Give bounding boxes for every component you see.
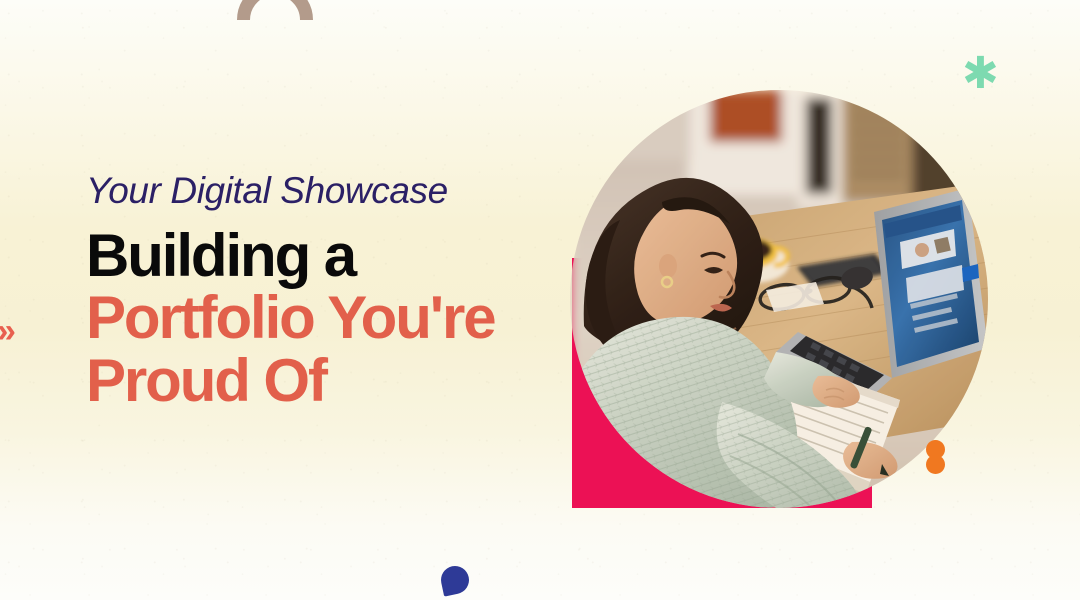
title-line-1: Building a <box>86 225 556 287</box>
stacked-dots-icon <box>926 440 945 474</box>
teardrop-icon <box>438 563 471 596</box>
headline-block: Your Digital Showcase Building a Portfol… <box>86 172 556 412</box>
double-chevron-icon: » <box>0 314 11 348</box>
title-line-3: Proud Of <box>86 350 556 412</box>
arch-icon <box>237 0 313 58</box>
asterisk-icon: ✱ <box>962 52 999 96</box>
eyebrow-text: Your Digital Showcase <box>86 172 556 209</box>
dot-bottom <box>926 455 945 474</box>
title-line-2: Portfolio You're <box>86 287 556 349</box>
poster-canvas: » ✱ Your Digital Showcase Building a Por… <box>0 0 1080 600</box>
